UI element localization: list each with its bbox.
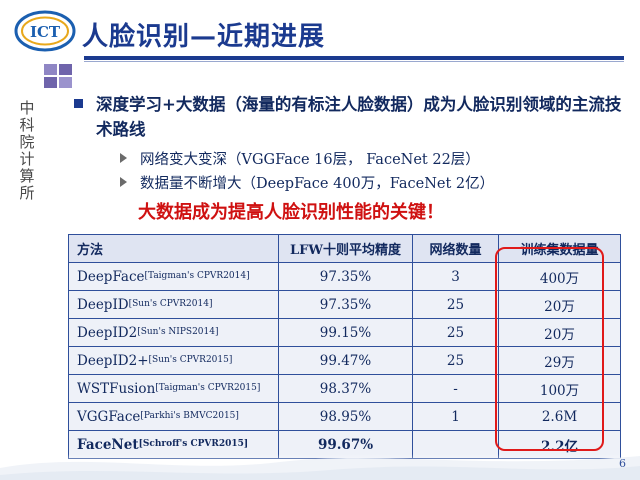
institute-seal-text: 中 科 院 计 算 所 [14,100,40,202]
cell-method-ref: [Taigman's CPVR2014] [145,271,250,281]
bullet-level1-text: 深度学习+大数据（海量的有标注人脸数据）成为人脸识别领域的主流技术路线 [96,92,622,142]
seal-char-4: 算 [14,168,40,185]
seal-char-0: 中 [14,100,40,117]
column-header-networks: 网络数量 [413,235,499,263]
cell-method: WSTFusion [77,381,155,397]
table-row: DeepFace[Taigman's CPVR2014] 97.35% 3 40… [69,263,621,291]
bullet-level2-list: 网络变大变深（VGGFace 16层， FaceNet 22层） 数据量不断增大… [120,148,620,196]
table-row: WSTFusion[Taigman's CPVR2015] 98.37% - 1… [69,375,621,403]
ict-logo: ICT [14,10,76,52]
slide-title: 人脸识别—近期进展 [82,16,622,53]
results-table: 方法 LFW十则平均精度 网络数量 训练集数据量 DeepFace[Taigma… [68,234,621,459]
seal-char-5: 所 [14,185,40,202]
cell-trainingdata: 29万 [499,347,621,375]
cell-trainingdata: 20万 [499,291,621,319]
decorative-squares [44,64,88,90]
title-divider [84,56,624,60]
title-divider-thin [84,61,624,62]
results-table-wrapper: 方法 LFW十则平均精度 网络数量 训练集数据量 DeepFace[Taigma… [68,234,620,459]
column-header-accuracy: LFW十则平均精度 [279,235,413,263]
seal-char-1: 科 [14,117,40,134]
cell-method: VGGFace [77,409,140,425]
cell-accuracy: 99.15% [279,319,413,347]
emphasis-text: 大数据成为提高人脸识别性能的关键！ [138,198,618,224]
table-header-row: 方法 LFW十则平均精度 网络数量 训练集数据量 [69,235,621,263]
cell-networks: 25 [413,319,499,347]
column-header-method: 方法 [69,235,279,263]
page-number: 6 [619,457,626,470]
bottom-decoration [0,428,640,480]
column-header-trainingdata: 训练集数据量 [499,235,621,263]
cell-networks: 1 [413,403,499,431]
cell-networks: - [413,375,499,403]
cell-method-ref: [Sun's CPVR2014] [129,299,213,309]
list-item-label: 网络变大变深（VGGFace 16层， FaceNet 22层） [140,152,480,168]
table-row: DeepID2[Sun's NIPS2014] 99.15% 25 20万 [69,319,621,347]
list-item-label: 数据量不断增大（DeepFace 400万，FaceNet 2亿） [140,176,494,192]
cell-accuracy: 99.47% [279,347,413,375]
seal-char-2: 院 [14,134,40,151]
cell-method-ref: [Sun's CPVR2015] [149,355,233,365]
cell-networks: 25 [413,291,499,319]
cell-trainingdata: 400万 [499,263,621,291]
svg-text:ICT: ICT [30,23,61,41]
cell-method: DeepID2 [77,325,137,341]
cell-accuracy: 98.95% [279,403,413,431]
cell-networks: 3 [413,263,499,291]
cell-method-ref: [Taigman's CPVR2015] [155,383,260,393]
arrow-right-icon [120,177,127,187]
slide-canvas: ICT 中 科 院 计 算 所 人脸识别—近期进展 深度学习+大数据（海量的有标… [0,0,640,480]
cell-method: DeepID [77,297,129,313]
list-item: 数据量不断增大（DeepFace 400万，FaceNet 2亿） [120,172,620,196]
table-row: DeepID[Sun's CPVR2014] 97.35% 25 20万 [69,291,621,319]
page-title: 人脸识别—近期进展 [82,16,622,53]
bullet-square-icon [74,99,83,108]
bullet-level1: 深度学习+大数据（海量的有标注人脸数据）成为人脸识别领域的主流技术路线 [74,92,622,142]
cell-networks: 25 [413,347,499,375]
cell-accuracy: 97.35% [279,291,413,319]
cell-trainingdata: 100万 [499,375,621,403]
cell-method: DeepFace [77,269,145,285]
cell-accuracy: 98.37% [279,375,413,403]
seal-char-3: 计 [14,151,40,168]
cell-method-ref: [Sun's NIPS2014] [137,327,218,337]
list-item: 网络变大变深（VGGFace 16层， FaceNet 22层） [120,148,620,172]
cell-trainingdata: 20万 [499,319,621,347]
table-row: DeepID2+[Sun's CPVR2015] 99.47% 25 29万 [69,347,621,375]
cell-method: DeepID2+ [77,353,149,369]
cell-trainingdata: 2.6M [499,403,621,431]
cell-method-ref: [Parkhi's BMVC2015] [140,411,239,421]
cell-accuracy: 97.35% [279,263,413,291]
table-row: VGGFace[Parkhi's BMVC2015] 98.95% 1 2.6M [69,403,621,431]
arrow-right-icon [120,153,127,163]
